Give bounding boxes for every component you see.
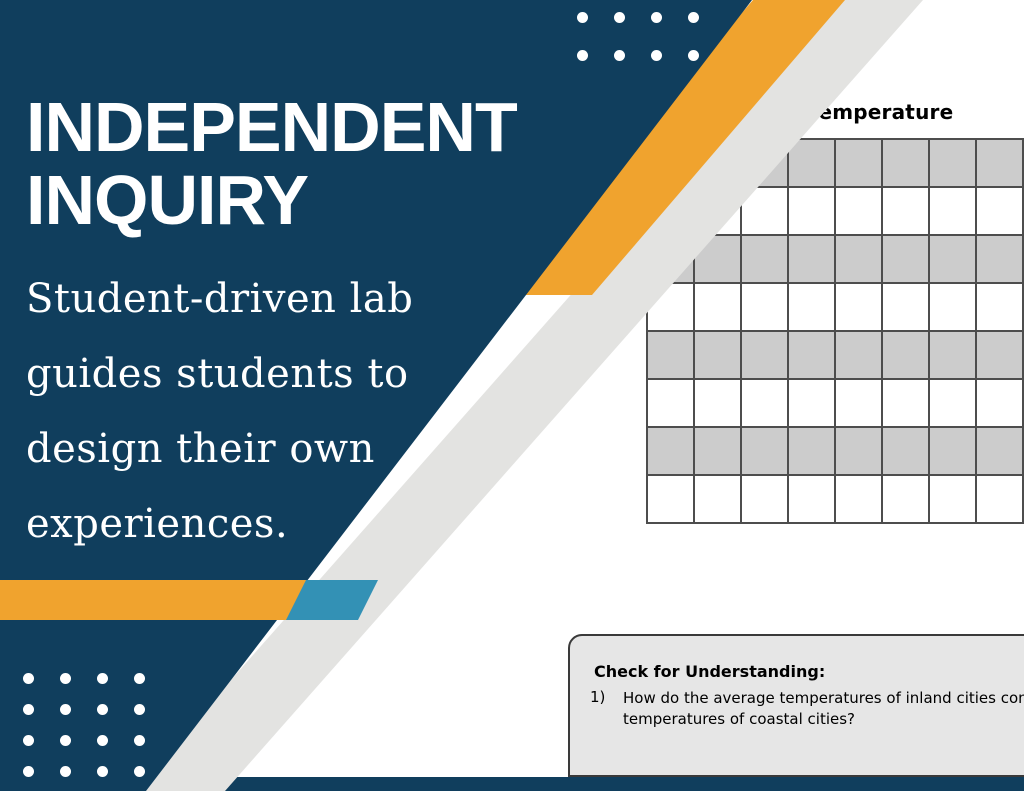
table-cell (929, 283, 976, 331)
table-cell (647, 427, 694, 475)
table-row (647, 427, 1023, 475)
decorative-dot (23, 673, 34, 684)
decorative-dot (614, 50, 625, 61)
decorative-dot (97, 673, 108, 684)
page-title: INDEPENDENT INQUIRY (26, 91, 526, 237)
table-cell (835, 427, 882, 475)
table-cell (929, 187, 976, 235)
table-row (647, 331, 1023, 379)
table-row (647, 283, 1023, 331)
orange-accent-bar (0, 580, 320, 620)
table-cell (788, 427, 835, 475)
table-cell (929, 379, 976, 427)
table-cell (694, 379, 741, 427)
decorative-dot (134, 673, 145, 684)
table-cell (976, 187, 1023, 235)
decorative-dot (134, 735, 145, 746)
table-cell (694, 331, 741, 379)
table-cell (694, 427, 741, 475)
dot-grid-bottom-left (23, 673, 171, 791)
decorative-dot (688, 50, 699, 61)
dot-grid-top-right (577, 12, 725, 88)
decorative-dot (134, 704, 145, 715)
check-for-understanding-box: Check for Understanding: 1) How do the a… (568, 634, 1024, 777)
table-cell (694, 283, 741, 331)
decorative-dot (614, 12, 625, 23)
table-cell (929, 427, 976, 475)
table-cell (882, 187, 929, 235)
table-cell (741, 379, 788, 427)
table-cell (788, 139, 835, 187)
table-cell (741, 475, 788, 523)
table-cell (882, 379, 929, 427)
table-cell (929, 475, 976, 523)
decorative-dot (688, 12, 699, 23)
slide-canvas: Average High Temperature Check for Under… (0, 0, 1024, 791)
table-cell (835, 139, 882, 187)
table-cell (694, 475, 741, 523)
table-cell (788, 187, 835, 235)
table-cell (976, 235, 1023, 283)
question-text: How do the average temperatures of inlan… (623, 688, 1024, 730)
decorative-dot (60, 766, 71, 777)
table-cell (882, 427, 929, 475)
decorative-dot (134, 766, 145, 777)
table-cell (882, 139, 929, 187)
table-row (647, 475, 1023, 523)
decorative-dot (97, 735, 108, 746)
table-cell (741, 427, 788, 475)
table-cell (788, 475, 835, 523)
question-number: 1) (590, 688, 605, 706)
table-cell (929, 235, 976, 283)
table-cell (976, 331, 1023, 379)
table-cell (741, 235, 788, 283)
decorative-dot (60, 673, 71, 684)
decorative-dot (60, 704, 71, 715)
table-cell (929, 139, 976, 187)
table-cell (976, 427, 1023, 475)
table-cell (882, 283, 929, 331)
table-cell (882, 235, 929, 283)
table-cell (647, 379, 694, 427)
table-row (647, 379, 1023, 427)
decorative-dot (23, 735, 34, 746)
decorative-dot (97, 704, 108, 715)
decorative-dot (577, 12, 588, 23)
table-cell (882, 475, 929, 523)
table-cell (788, 331, 835, 379)
table-cell (835, 235, 882, 283)
decorative-dot (60, 735, 71, 746)
table-cell (976, 475, 1023, 523)
table-cell (647, 475, 694, 523)
table-cell (976, 283, 1023, 331)
check-for-understanding-title: Check for Understanding: (594, 662, 825, 681)
decorative-dot (97, 766, 108, 777)
table-cell (835, 331, 882, 379)
table-cell (835, 283, 882, 331)
decorative-dot (651, 12, 662, 23)
table-cell (929, 331, 976, 379)
table-cell (835, 187, 882, 235)
decorative-dot (23, 766, 34, 777)
decorative-dot (577, 50, 588, 61)
decorative-dot (651, 50, 662, 61)
page-subtitle: Student-driven lab guides students to de… (26, 262, 506, 562)
table-cell (741, 331, 788, 379)
decorative-dot (23, 704, 34, 715)
table-cell (976, 379, 1023, 427)
table-cell (788, 379, 835, 427)
table-cell (647, 331, 694, 379)
table-cell (835, 379, 882, 427)
table-cell (788, 283, 835, 331)
table-cell (835, 475, 882, 523)
table-cell (741, 283, 788, 331)
table-cell (882, 331, 929, 379)
table-cell (788, 235, 835, 283)
table-cell (976, 139, 1023, 187)
